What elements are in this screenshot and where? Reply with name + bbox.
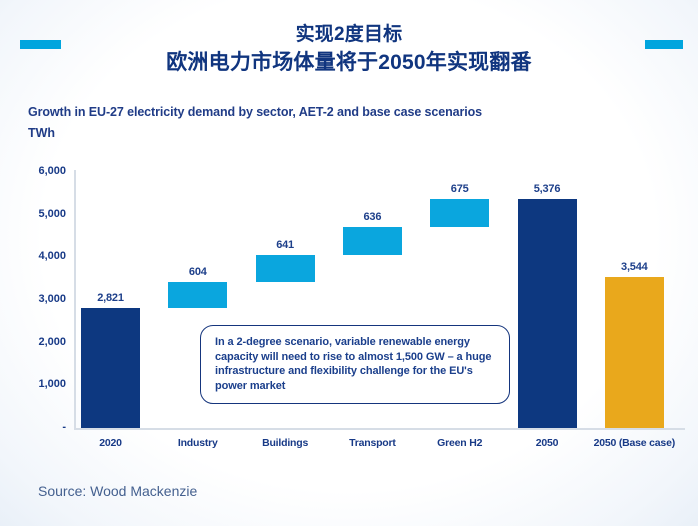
bar-value-label: 675	[416, 183, 503, 195]
y-axis-tick: 4,000	[4, 250, 66, 262]
bar-value-label: 636	[329, 211, 416, 223]
bar-industry[interactable]	[168, 282, 227, 308]
category-label: Green H2	[414, 437, 505, 449]
bar-value-label: 3,544	[591, 261, 678, 273]
bar-value-label: 604	[154, 266, 241, 278]
y-axis-tick: 3,000	[4, 293, 66, 305]
category-label: Industry	[152, 437, 243, 449]
bar-value-label: 2,821	[67, 292, 154, 304]
y-axis-tick: 6,000	[4, 165, 66, 177]
y-axis-tick: 1,000	[4, 378, 66, 390]
slide-canvas: 实现2度目标 欧洲电力市场体量将于2050年实现翻番 Growth in EU-…	[0, 0, 698, 526]
y-axis-tick: 5,000	[4, 208, 66, 220]
y-axis-tick: -	[4, 421, 66, 433]
bar-2020[interactable]	[81, 308, 140, 428]
category-label: 2050 (Base case)	[589, 437, 680, 449]
annotation-callout: In a 2-degree scenario, variable renewab…	[200, 325, 510, 404]
bar-transport[interactable]	[343, 227, 402, 254]
source-note: Source: Wood Mackenzie	[38, 483, 197, 499]
category-label: 2050	[502, 437, 593, 449]
y-axis-tick: 2,000	[4, 336, 66, 348]
bar-value-label: 5,376	[504, 183, 591, 195]
x-axis-line	[74, 428, 685, 430]
category-label: Buildings	[240, 437, 331, 449]
chart-plot-area: -1,0002,0003,0004,0005,0006,000 2,821604…	[0, 0, 698, 526]
bar-buildings[interactable]	[256, 255, 315, 282]
bar-2050[interactable]	[518, 199, 577, 428]
bar-green-h2[interactable]	[430, 199, 489, 228]
bar-value-label: 641	[242, 239, 329, 251]
bar-2050-base-case[interactable]	[605, 277, 664, 428]
category-label: 2020	[65, 437, 156, 449]
category-label: Transport	[327, 437, 418, 449]
